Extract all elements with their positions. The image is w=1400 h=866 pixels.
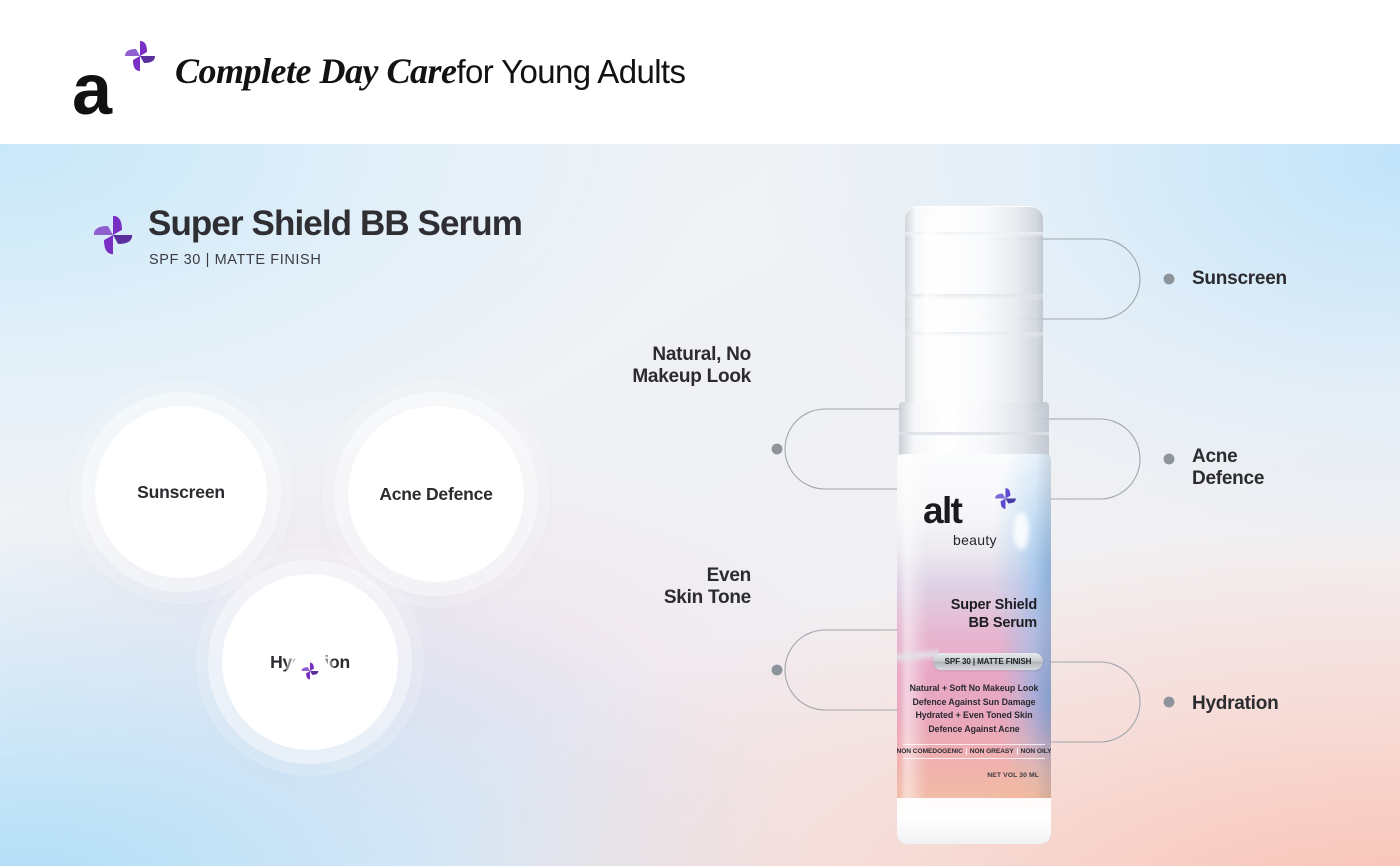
page-title-regular: for Young Adults [456,53,685,90]
bottle-brand-sub: beauty [953,532,997,548]
bottle-body: alt beauty Super Shield BB Serum [897,454,1051,844]
callout-line2: Skin Tone [491,587,751,609]
callout-line1: Natural, No [491,344,751,366]
callout-even-skin-tone: Even Skin Tone [491,565,751,609]
page-header: a Complete Day Carefor Young Adults [0,0,1400,144]
connector-dot-sunscreen [1164,274,1175,285]
product-infographic-page: a Complete Day Carefor Young Adults [0,0,1400,866]
bottle-badge: NON GREASY [966,748,1017,755]
benefit-bubble-acne-defence: Acne Defence [348,406,524,582]
bottle-product-name: Super Shield BB Serum [907,596,1037,632]
page-title: Complete Day Carefor Young Adults [175,50,685,92]
bottle-badge: NON COMEDOGENIC [897,748,966,755]
product-name: Super Shield BB Serum [148,204,522,244]
callout-line2: Makeup Look [491,366,751,388]
hero-stage: Super Shield BB Serum SPF 30 | MATTE FIN… [0,144,1400,866]
bottle-spf-band-label: SPF 30 | MATTE FINISH [945,657,1032,666]
bottle-net-volume: NET VOL 30 ML [987,772,1039,779]
benefit-bubble-label: Sunscreen [137,482,225,503]
brand-plus-icon [122,38,158,74]
bottle-brand-logo: alt beauty [923,492,1023,548]
collar-line [899,432,1049,435]
callout-line1: Sunscreen [1192,268,1392,290]
callout-line1: Even [491,565,751,587]
bottle-gloss-right [1035,454,1051,844]
bottle-claim: Defence Against Acne [905,723,1043,737]
bottle-reflection [897,846,1051,866]
connector-dot-hydration [1164,697,1175,708]
bottle-claim: Natural + Soft No Makeup Look [905,682,1043,696]
page-title-italic: Complete Day Care [175,51,456,91]
bottle-claim: Defence Against Sun Damage [905,696,1043,710]
product-plus-icon [90,212,136,258]
bottle-product-name-line2: BB Serum [907,614,1037,632]
plus-icon [300,661,320,681]
callout-hydration: Hydration [1192,693,1392,715]
bottle-cap [905,206,1043,411]
product-subtitle: SPF 30 | MATTE FINISH [149,252,321,268]
bottle-claim: Hydrated + Even Toned Skin [905,709,1043,723]
callout-sunscreen: Sunscreen [1192,268,1392,290]
connector-dot-even-skin-tone [772,665,783,676]
bottle-product-name-line1: Super Shield [907,596,1037,614]
brand-logo-letter: a [72,54,110,126]
benefit-bubble-label: Acne Defence [379,484,492,505]
reflection-blue-tint [959,862,1051,866]
bottle-brand-name: alt [923,492,961,529]
bottle-base [897,798,1051,844]
callout-line2: Defence [1192,468,1392,490]
product-bottle: alt beauty Super Shield BB Serum [893,206,1047,866]
connector-dot-acne-defence [1164,454,1175,465]
bottle-badge-row: NON COMEDOGENIC NON GREASY NON OILY [903,744,1045,759]
brand-logo: a [72,38,158,106]
bottle-claims-list: Natural + Soft No Makeup Look Defence Ag… [905,682,1043,737]
callout-line1: Hydration [1192,693,1392,715]
benefit-bubble-sunscreen: Sunscreen [95,406,267,578]
connector-dot-natural-no-makeup [772,444,783,455]
callout-natural-no-makeup: Natural, No Makeup Look [491,344,751,388]
bubble-plus-badge [291,652,329,690]
brand-plus-icon [993,486,1018,511]
bottle-spf-band: SPF 30 | MATTE FINISH [933,653,1043,670]
cap-gloss [923,216,949,398]
callout-acne-defence: Acne Defence [1192,446,1392,490]
bottle-badge: NON OILY [1017,748,1051,755]
callout-line1: Acne [1192,446,1392,468]
